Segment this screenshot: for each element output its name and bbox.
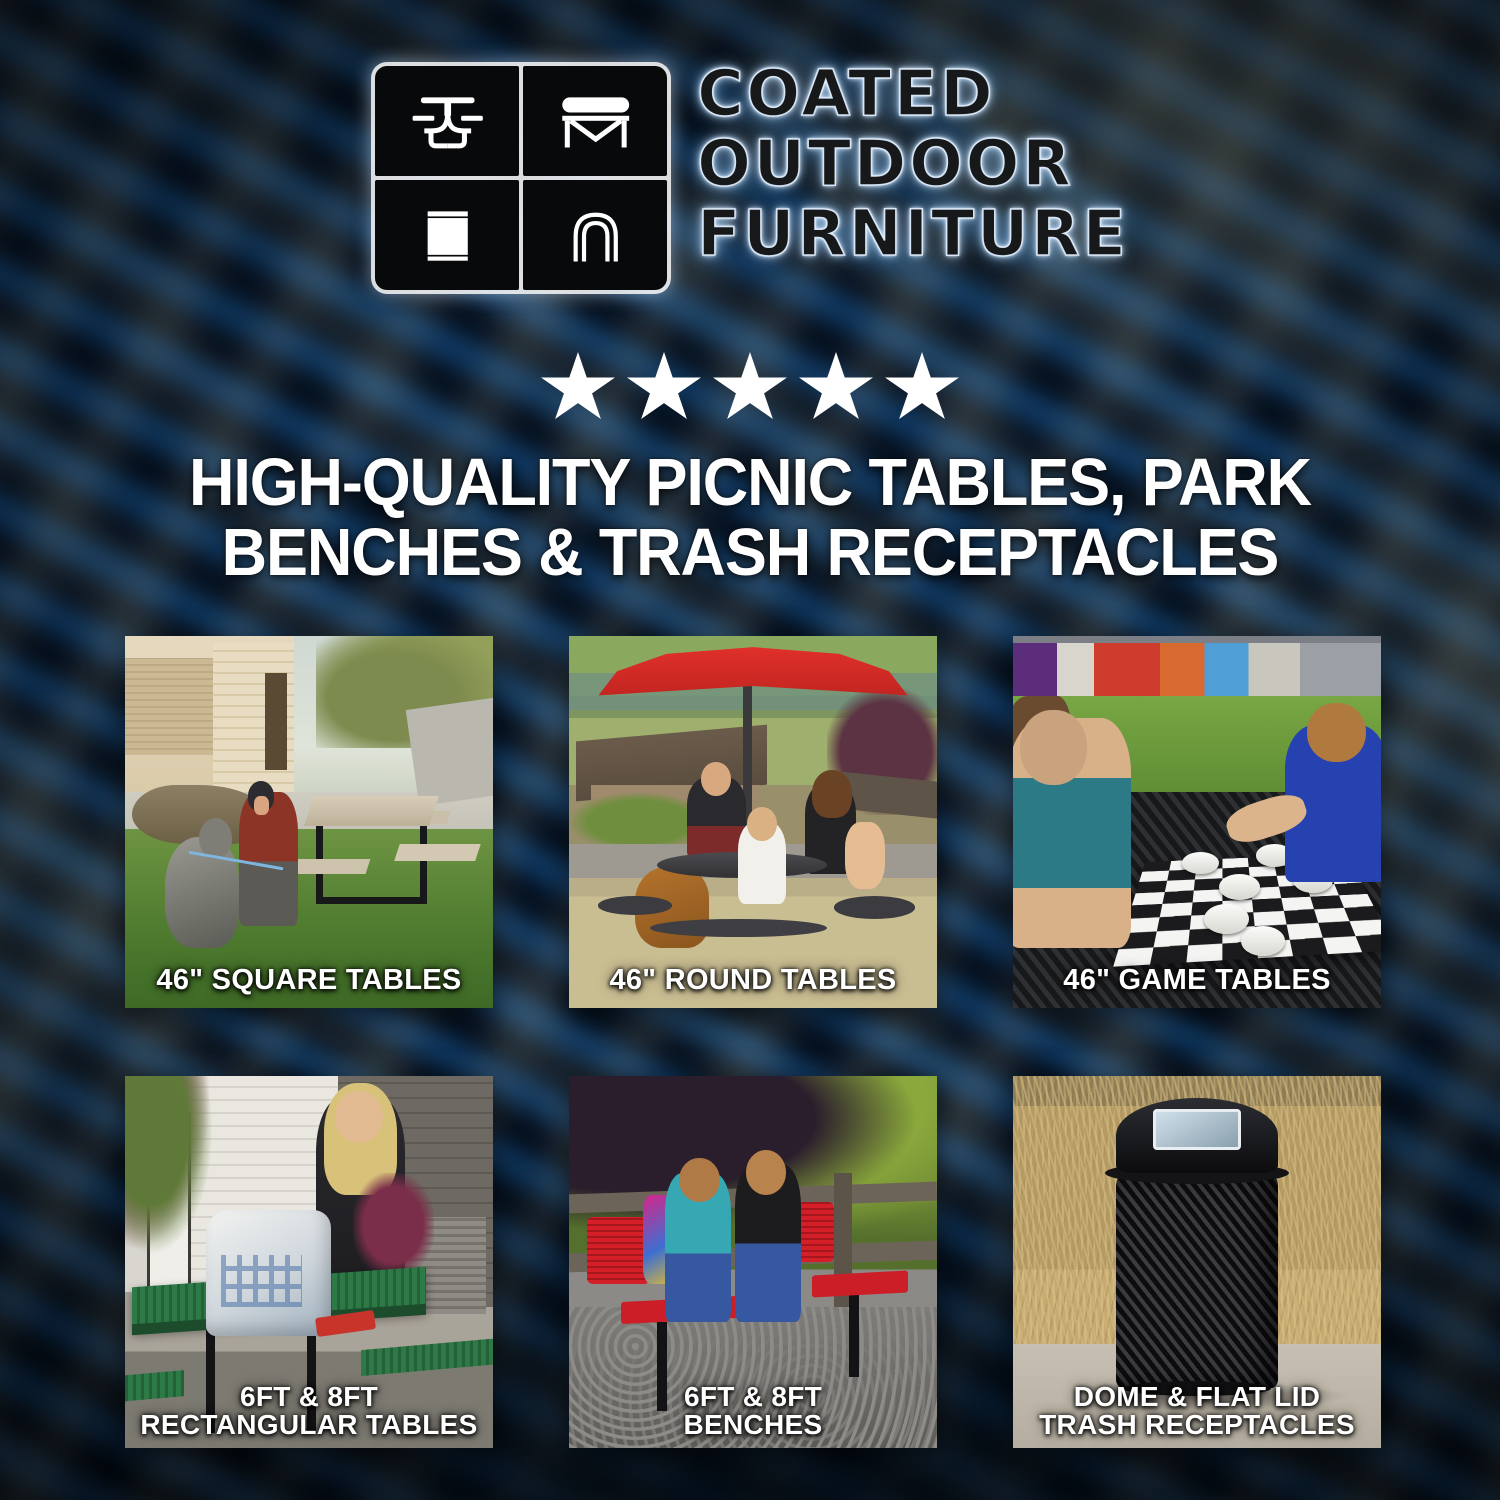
caption-line-1: 6FT & 8FT <box>125 1383 493 1412</box>
caption-line-1: 6FT & 8FT <box>569 1383 937 1412</box>
brand-line-3: FURNITURE <box>697 204 1129 264</box>
brand-line-1: COATED <box>697 64 1129 124</box>
caption-line-2: RECTANGULAR TABLES <box>125 1411 493 1440</box>
caption-line-1: 46" GAME TABLES <box>1013 966 1381 996</box>
page-headline: HIGH-QUALITY PICNIC TABLES, PARK BENCHES… <box>45 448 1455 587</box>
product-photo-grid: 46" SQUARE TABLES 46" ROUND TAB <box>125 636 1381 1448</box>
product-caption: 6FT & 8FT BENCHES <box>569 1383 937 1440</box>
star-icon <box>713 352 787 424</box>
product-caption: 46" ROUND TABLES <box>569 966 937 996</box>
star-icon <box>885 352 959 424</box>
bench-icon <box>523 66 667 176</box>
product-card-benches[interactable]: 6FT & 8FT BENCHES <box>569 1076 937 1448</box>
logo-icon-grid <box>371 62 671 294</box>
headline-line-1: HIGH-QUALITY PICNIC TABLES, PARK <box>189 445 1311 520</box>
product-photo-game-tables <box>1013 636 1381 1008</box>
picnic-table-icon <box>375 66 519 176</box>
product-caption: 46" SQUARE TABLES <box>125 966 493 996</box>
caption-line-1: DOME & FLAT LID <box>1013 1383 1381 1412</box>
brand-wordmark: COATED OUTDOOR FURNITURE <box>697 62 1129 264</box>
star-icon <box>627 352 701 424</box>
caption-line-2: BENCHES <box>569 1411 937 1440</box>
product-photo-square-tables <box>125 636 493 1008</box>
caption-line-2: TRASH RECEPTACLES <box>1013 1411 1381 1440</box>
product-card-round-tables[interactable]: 46" ROUND TABLES <box>569 636 937 1008</box>
caption-line-1: 46" ROUND TABLES <box>569 966 937 996</box>
brand-logo: COATED OUTDOOR FURNITURE <box>0 62 1500 294</box>
product-card-square-tables[interactable]: 46" SQUARE TABLES <box>125 636 493 1008</box>
product-caption: 46" GAME TABLES <box>1013 966 1381 996</box>
product-card-rectangular-tables[interactable]: 6FT & 8FT RECTANGULAR TABLES <box>125 1076 493 1448</box>
headline-line-2: BENCHES & TRASH RECEPTACLES <box>45 518 1455 588</box>
star-rating <box>0 352 1500 424</box>
product-photo-round-tables <box>569 636 937 1008</box>
product-card-game-tables[interactable]: 46" GAME TABLES <box>1013 636 1381 1008</box>
caption-line-1: 46" SQUARE TABLES <box>125 966 493 996</box>
star-icon <box>541 352 615 424</box>
trash-receptacle-icon <box>375 180 519 290</box>
star-icon <box>799 352 873 424</box>
bike-rack-icon <box>523 180 667 290</box>
brand-line-2: OUTDOOR <box>697 134 1129 194</box>
product-card-trash-receptacles[interactable]: DOME & FLAT LID TRASH RECEPTACLES <box>1013 1076 1381 1448</box>
product-caption: DOME & FLAT LID TRASH RECEPTACLES <box>1013 1383 1381 1440</box>
product-caption: 6FT & 8FT RECTANGULAR TABLES <box>125 1383 493 1440</box>
